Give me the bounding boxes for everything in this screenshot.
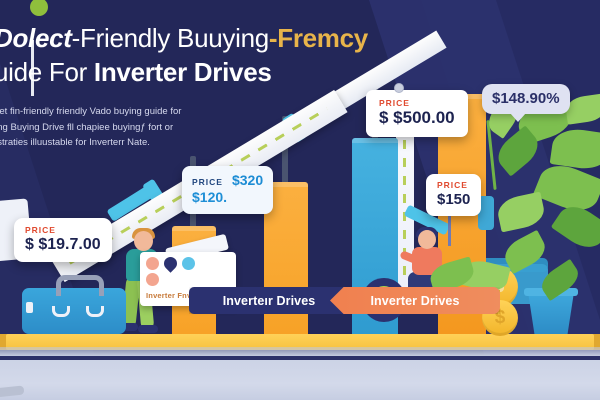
toolbox-clasp (86, 306, 104, 317)
price-tag-left[interactable]: PRICE $ $19.7.00 (14, 218, 112, 262)
subcopy-line-2: ring Buying Drive fll chapiee buyingƒ fo… (0, 120, 252, 136)
ribbon-right[interactable]: Inverter Drives (330, 287, 500, 314)
bubble-tail (510, 113, 526, 122)
location-pin-icon (161, 254, 179, 272)
headline-line-2-bold: Inverter Drives (94, 57, 272, 87)
toolbox-latch (26, 302, 33, 313)
shoe (138, 325, 158, 333)
bar-highlight (352, 138, 398, 143)
price-tag-blue-value: $120. (192, 188, 263, 207)
price-tag-right[interactable]: PRICE $150 (426, 174, 481, 216)
subcopy-line-3: ustraties illuustable for Inverterr Nate… (0, 135, 252, 151)
toolbox (22, 288, 126, 334)
swatch-blue-icon (182, 257, 195, 270)
headline-accent: -Fremcy (269, 23, 368, 53)
price-tag-big[interactable]: PRICE $ $500.00 (366, 90, 468, 137)
ribbon-left-label: Inverteır Drives (223, 294, 316, 308)
floor-shadow (0, 347, 600, 356)
subcopy-block: lget fin-friendly friendly Vado buying g… (0, 104, 252, 151)
price-tag-blue-label: PRICE (192, 177, 223, 187)
swatch-peach-icon (146, 257, 159, 270)
headline-block: Dolect-Friendly Buuying-Fremcy uide For … (0, 24, 424, 87)
subcopy-line-1: lget fin-friendly friendly Vado buying g… (0, 104, 252, 120)
floor (0, 360, 600, 400)
head (418, 230, 436, 249)
toolbox-clasp (52, 306, 70, 317)
price-tag-right-value: $150 (437, 190, 470, 209)
headline-line-1: Dolect-Friendly Buuying-Fremcy (0, 24, 424, 53)
brand-card-swatches (146, 257, 230, 270)
infographic-banner: $ Inverter Fnv Inverteır Drives Inverter… (0, 0, 600, 400)
headline-word-dolect: Dolect (0, 23, 72, 53)
ribbon-right-label: Inverter Drives (370, 294, 459, 308)
bar-highlight (172, 226, 216, 231)
price-tag-blue-secondary: $320 (232, 172, 263, 188)
price-tag-left-label: PRICE (25, 225, 101, 235)
price-tag-big-label: PRICE (379, 98, 455, 108)
swatch-peach-icon (146, 273, 159, 286)
ribbon-left[interactable]: Inverteır Drives (189, 287, 349, 314)
headline-line-2: uide For Inverter Drives (0, 58, 424, 87)
price-tag-right-label: PRICE (437, 180, 470, 190)
percentage-bubble: $148.90% (482, 84, 570, 114)
head (134, 231, 153, 251)
price-tag-big-value: $ $500.00 (379, 108, 455, 127)
price-tag-left-value: $ $19.7.00 (25, 235, 101, 254)
toolbox-handle (56, 275, 104, 296)
headline-mid: -Friendly Buuying (72, 23, 269, 53)
price-tag-right-post (448, 212, 451, 246)
price-tag-blue[interactable]: PRICE $320 $120. (182, 166, 273, 214)
percentage-bubble-value: $148.90% (492, 90, 560, 107)
